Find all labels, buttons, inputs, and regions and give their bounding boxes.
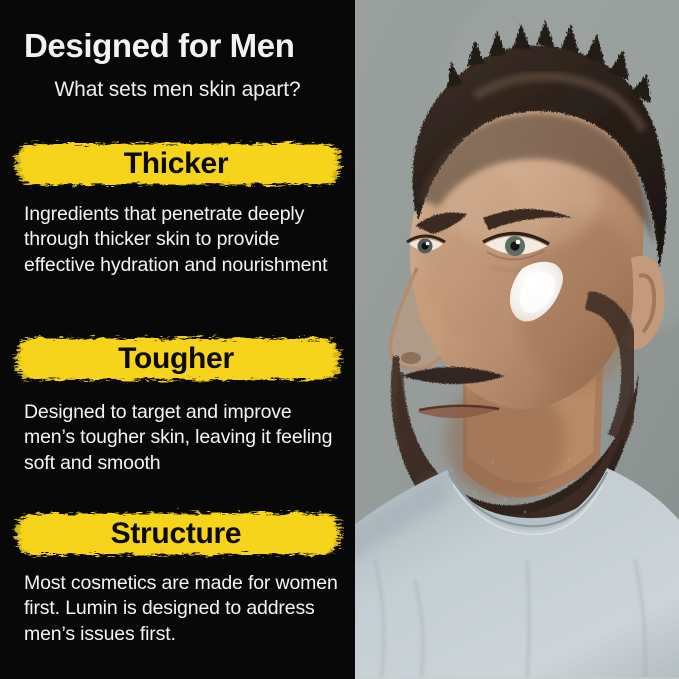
feature-body-thicker: Ingredients that penetrate deeply throug… <box>24 202 346 278</box>
feature-body-tougher: Designed to target and improve men’s tou… <box>24 400 346 476</box>
feature-body-structure: Most cosmetics are made for women first.… <box>24 571 346 647</box>
info-panel: Designed for Men What sets men skin apar… <box>0 0 355 679</box>
feature-banner-label: Thicker <box>12 138 344 190</box>
model-photo-illustration <box>355 0 679 679</box>
feature-banner-label: Structure <box>12 508 344 560</box>
feature-banner-tougher: Tougher <box>12 333 344 385</box>
feature-banner-structure: Structure <box>12 508 344 560</box>
page-subtitle: What sets men skin apart? <box>0 78 355 102</box>
page-title: Designed for Men <box>24 28 344 64</box>
model-photo <box>355 0 679 679</box>
feature-banner-thicker: Thicker <box>12 138 344 190</box>
feature-banner-label: Tougher <box>12 333 344 385</box>
ad-canvas: Designed for Men What sets men skin apar… <box>0 0 679 679</box>
